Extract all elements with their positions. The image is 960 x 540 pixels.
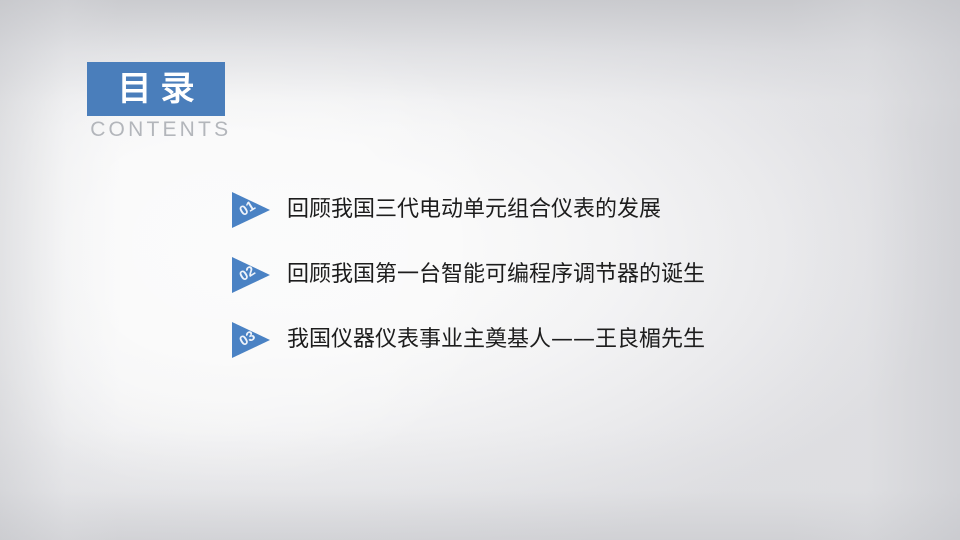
triangle-right-icon: 03 <box>232 322 272 358</box>
list-item-label: 我国仪器仪表事业主奠基人——王良楣先生 <box>287 326 705 354</box>
list-item[interactable]: 03 我国仪器仪表事业主奠基人——王良楣先生 <box>232 316 932 364</box>
triangle-right-icon: 02 <box>232 257 272 293</box>
list-item[interactable]: 01 回顾我国三代电动单元组合仪表的发展 <box>232 186 932 234</box>
title-box: 目录 <box>87 62 225 116</box>
list-item[interactable]: 02 回顾我国第一台智能可编程序调节器的诞生 <box>232 251 932 299</box>
contents-header: 目录 CONTENTS <box>87 62 225 141</box>
page-subtitle: CONTENTS <box>87 118 225 141</box>
contents-list: 01 回顾我国三代电动单元组合仪表的发展 02 回顾我国第一台智能可编程序调节器… <box>232 186 932 381</box>
presentation-slide: 目录 CONTENTS 01 回顾我国三代电动单元组合仪表的发展 02 回顾我国… <box>0 0 960 540</box>
list-item-label: 回顾我国三代电动单元组合仪表的发展 <box>287 196 661 224</box>
list-item-label: 回顾我国第一台智能可编程序调节器的诞生 <box>287 261 705 289</box>
page-title: 目录 <box>109 72 204 106</box>
triangle-right-icon: 01 <box>232 192 272 228</box>
